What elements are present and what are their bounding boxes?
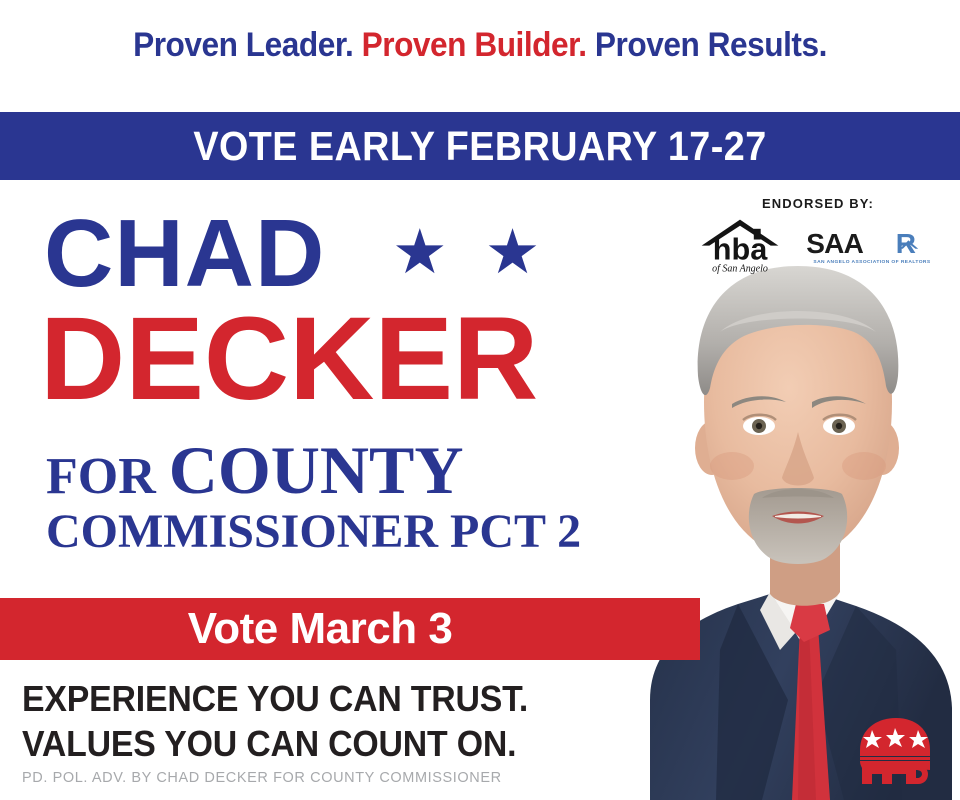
svg-text:hba: hba xyxy=(713,232,768,266)
political-disclaimer: PD. POL. ADV. BY CHAD DECKER FOR COUNTY … xyxy=(22,770,502,786)
vote-date-text: Vote March 3 xyxy=(0,598,640,660)
vote-date-bar: Vote March 3 xyxy=(0,598,700,660)
candidate-first-name: CHAD xyxy=(44,206,325,302)
endorsement-logo-row: hba of San Angelo SAA R SAN ANGELO ASSOC… xyxy=(676,215,960,278)
endorsement-block: ENDORSED BY: hba of San Angelo SAA R SAN… xyxy=(676,196,960,278)
office-line-1: FOR COUNTY xyxy=(46,436,463,504)
tagline-part-2: Proven Builder. xyxy=(362,26,587,64)
candidate-last-name: DECKER xyxy=(40,300,538,418)
early-vote-banner: VOTE EARLY FEBRUARY 17-27 xyxy=(0,112,960,180)
slogan-line-2: VALUES YOU CAN COUNT ON. xyxy=(22,721,528,766)
svg-text:SAN ANGELO ASSOCIATION OF REAL: SAN ANGELO ASSOCIATION OF REALTORS xyxy=(813,259,930,265)
campaign-ad: Proven Leader. Proven Builder. Proven Re… xyxy=(0,0,960,800)
tagline-part-3: Proven Results. xyxy=(595,26,827,64)
tagline: Proven Leader. Proven Builder. Proven Re… xyxy=(34,26,927,65)
endorsed-by-label: ENDORSED BY: xyxy=(676,196,960,211)
stars-decoration: ★ ★ xyxy=(392,222,550,284)
slogan-line-1: EXPERIENCE YOU CAN TRUST. xyxy=(22,676,528,721)
office-main: COUNTY xyxy=(169,432,464,508)
svg-text:SAA: SAA xyxy=(806,228,863,259)
slogan: EXPERIENCE YOU CAN TRUST. VALUES YOU CAN… xyxy=(22,676,528,767)
gop-elephant-icon xyxy=(852,712,938,786)
tagline-part-1: Proven Leader. xyxy=(133,26,353,64)
hba-logo-icon: hba of San Angelo xyxy=(694,215,786,278)
office-line-2: COMMISSIONER PCT 2 xyxy=(46,508,581,556)
office-prefix: FOR xyxy=(46,448,169,505)
svg-text:of San Angelo: of San Angelo xyxy=(712,264,768,275)
saar-logo-icon: SAA R SAN ANGELO ASSOCIATION OF REALTORS xyxy=(802,225,942,268)
early-vote-banner-text: VOTE EARLY FEBRUARY 17-27 xyxy=(38,112,921,180)
